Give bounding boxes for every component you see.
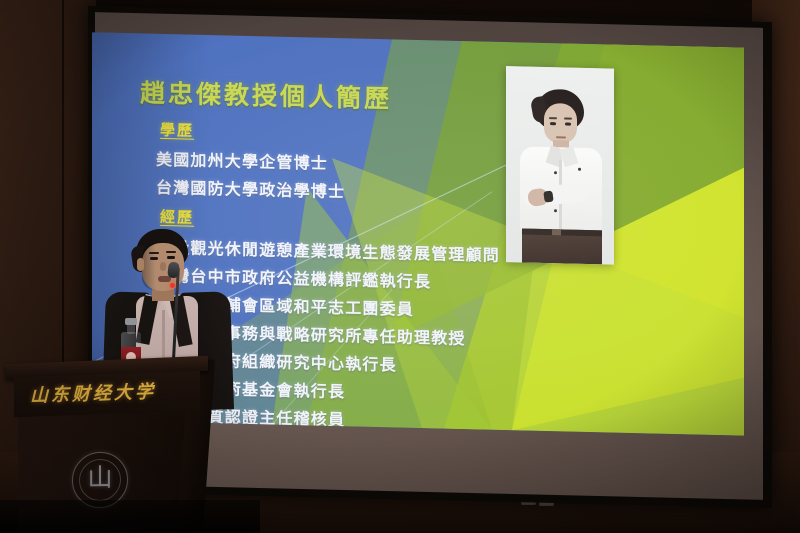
speaker-eye [150,257,158,260]
water-bottle-cap [125,318,137,325]
slide-title: 趙忠傑教授個人簡歷 [140,73,392,115]
speaker-ear [137,258,144,271]
speaker-eye [167,256,175,259]
speaker-eyebrow [166,251,176,253]
slide-line: 台灣台中市政府公益機構評鑑執行長 [156,262,431,292]
presentation-photo-scene: 趙忠傑教授個人簡歷 學歷 美國加州大學企管博士 台灣國防大學政治學博士 經歷 北… [0,0,800,533]
speaker-eyebrow [149,252,159,254]
slide-line: 北投觀光休閒遊憩產業環境生態發展管理顧問 [156,234,500,266]
floor-shadow [0,500,260,533]
speaker-face-shadow [142,243,156,291]
microphone-indicator-light [170,283,175,288]
slide-line: 台灣國防大學政治學博士 [156,174,345,202]
emblem-mountain-icon: 山 [73,465,127,491]
slide-section-heading-experience: 經歷 [160,206,194,228]
speaker-nose [160,262,166,271]
slide-line: 美國加州大學企管博士 [156,146,328,174]
slide-section-heading-education: 學歷 [160,119,194,141]
